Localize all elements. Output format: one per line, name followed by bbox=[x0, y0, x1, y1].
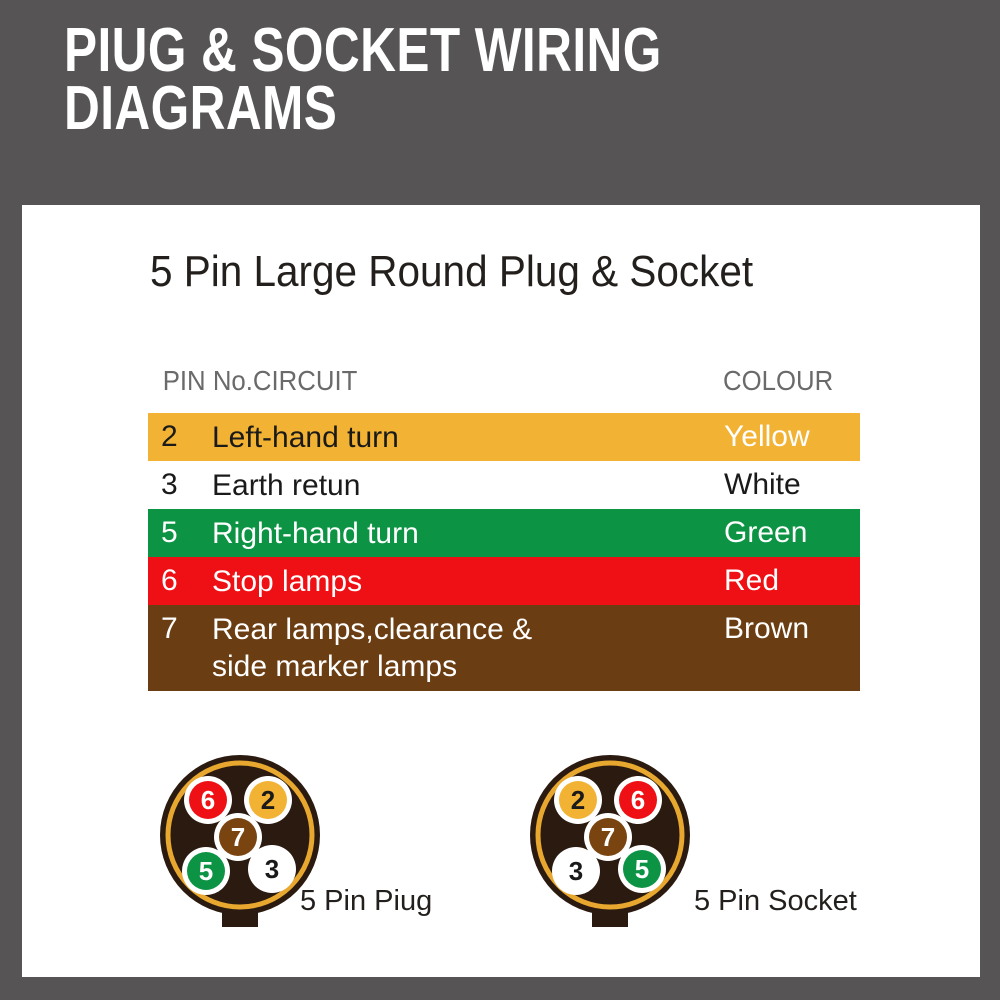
cell-colour-name: Green bbox=[724, 516, 807, 550]
plug-caption: 5 Pin Piug bbox=[300, 885, 432, 918]
socket-caption: 5 Pin Socket bbox=[694, 885, 857, 918]
pin-label: 3 bbox=[265, 854, 279, 884]
pin-label: 5 bbox=[199, 856, 213, 886]
page-title: PIUG & SOCKET WIRING DIAGRAMS bbox=[64, 22, 768, 137]
card-subtitle: 5 Pin Large Round Plug & Socket bbox=[150, 247, 753, 297]
connector-pin-2: 2 bbox=[554, 776, 602, 824]
table-row: 2Left-hand turnYellow bbox=[148, 413, 860, 461]
pin-label: 6 bbox=[201, 785, 215, 815]
cell-colour-name: Brown bbox=[724, 612, 809, 646]
column-header-colour: COLOUR bbox=[723, 365, 833, 397]
connector-pin-6: 6 bbox=[614, 776, 662, 824]
pin-label: 2 bbox=[261, 785, 275, 815]
table-row: 3Earth retunWhite bbox=[148, 461, 860, 509]
pin-label: 3 bbox=[569, 856, 583, 886]
cell-pin-number: 5 bbox=[161, 516, 205, 550]
pin-label: 2 bbox=[571, 785, 585, 815]
connector-pin-3: 3 bbox=[552, 847, 600, 895]
table-row: 5Right-hand turnGreen bbox=[148, 509, 860, 557]
connector-diagrams: 62753 26735 5 Pin Piug 5 Pin Socket bbox=[22, 745, 980, 955]
cell-circuit-description: Left-hand turn bbox=[212, 420, 399, 457]
cell-circuit-description: Rear lamps,clearance & side marker lamps bbox=[212, 612, 532, 685]
cell-circuit-description: Earth retun bbox=[212, 468, 360, 505]
cell-pin-number: 6 bbox=[161, 564, 205, 598]
cell-circuit-description: Stop lamps bbox=[212, 564, 362, 601]
connector-pin-5: 5 bbox=[182, 847, 230, 895]
connector-pin-3: 3 bbox=[248, 845, 296, 893]
column-header-pin-circuit: PIN No.CIRCUIT bbox=[163, 365, 358, 397]
socket-connector-diagram: 26735 bbox=[520, 745, 700, 945]
connector-pin-5: 5 bbox=[618, 845, 666, 893]
pin-label: 5 bbox=[635, 854, 649, 884]
cell-colour-name: Red bbox=[724, 564, 779, 598]
connector-pin-6: 6 bbox=[184, 776, 232, 824]
pin-label: 7 bbox=[231, 822, 245, 852]
pin-label: 7 bbox=[601, 822, 615, 852]
cell-colour-name: White bbox=[724, 468, 801, 502]
cell-circuit-description: Right-hand turn bbox=[212, 516, 419, 553]
cell-pin-number: 3 bbox=[161, 468, 205, 502]
page-header: PIUG & SOCKET WIRING DIAGRAMS bbox=[64, 22, 944, 137]
cell-colour-name: Yellow bbox=[724, 420, 810, 454]
table-row: 7Rear lamps,clearance & side marker lamp… bbox=[148, 605, 860, 691]
connector-pin-2: 2 bbox=[244, 776, 292, 824]
cell-pin-number: 2 bbox=[161, 420, 205, 454]
cell-pin-number: 7 bbox=[161, 612, 205, 646]
content-card: 5 Pin Large Round Plug & Socket PIN No.C… bbox=[22, 205, 980, 977]
table-row: 6Stop lampsRed bbox=[148, 557, 860, 605]
table-header-row: PIN No.CIRCUIT COLOUR bbox=[148, 365, 803, 407]
pin-label: 6 bbox=[631, 785, 645, 815]
table-body: 2Left-hand turnYellow3Earth retunWhite5R… bbox=[148, 413, 860, 691]
wiring-table: PIN No.CIRCUIT COLOUR 2Left-hand turnYel… bbox=[148, 365, 860, 691]
